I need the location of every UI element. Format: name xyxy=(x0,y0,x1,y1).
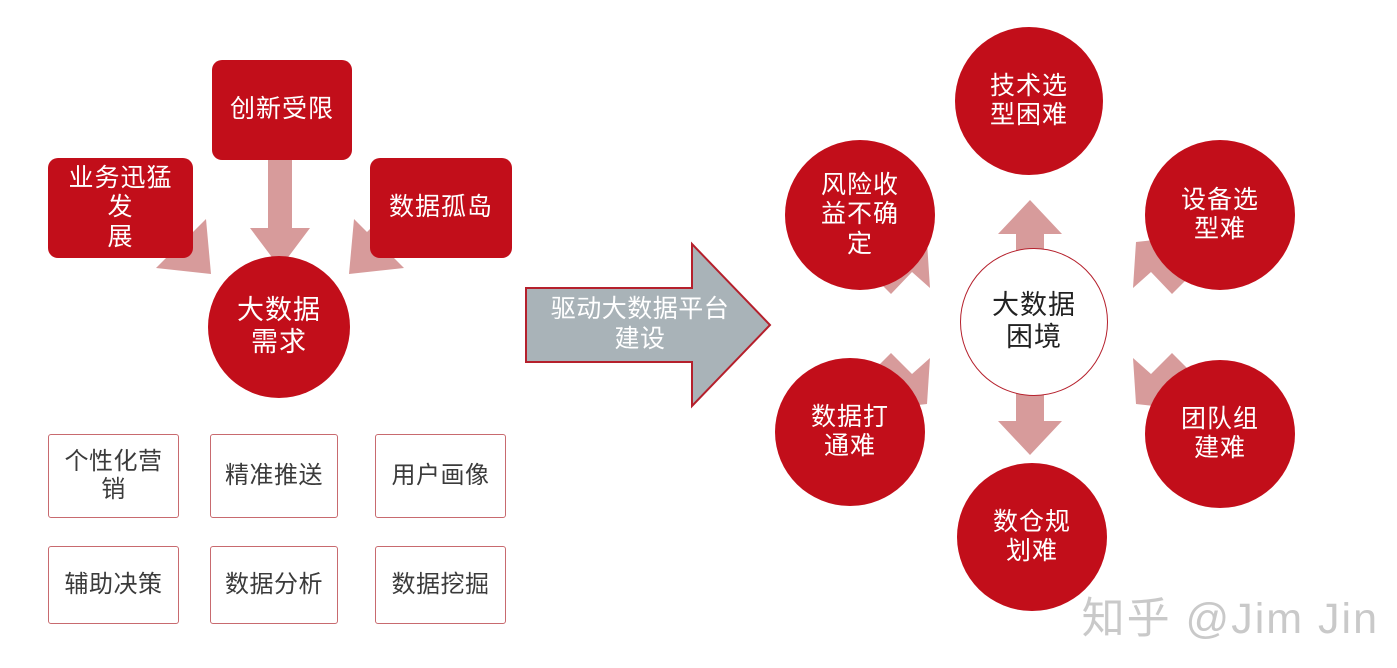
issue-circle-team-building-hard[interactable]: 团队组 建难 xyxy=(1145,360,1295,508)
issue-circle-tech-selection-hard[interactable]: 技术选 型困难 xyxy=(955,27,1103,175)
hub-circle-bigdata-demand[interactable]: 大数据 需求 xyxy=(208,256,350,398)
outcome-box-data-mining[interactable]: 数据挖掘 xyxy=(375,546,506,624)
outcome-box-user-profile[interactable]: 用户画像 xyxy=(375,434,506,518)
outcome-box-personalized-marketing[interactable]: 个性化营 销 xyxy=(48,434,179,518)
issue-circle-data-integration-hard[interactable]: 数据打 通难 xyxy=(775,358,925,506)
outcome-box-data-analysis[interactable]: 数据分析 xyxy=(210,546,338,624)
center-circle-bigdata-dilemma[interactable]: 大数据 困境 xyxy=(960,248,1108,396)
issue-circle-equipment-selection-hard[interactable]: 设备选 型难 xyxy=(1145,140,1295,290)
diagram-canvas: 业务迅猛发 展 创新受限 数据孤岛 大数据 需求 个性化营 销 精准推送 用户画… xyxy=(0,0,1397,668)
outcome-box-decision-support[interactable]: 辅助决策 xyxy=(48,546,179,624)
driver-box-innovation-limited[interactable]: 创新受限 xyxy=(212,60,352,160)
issue-circle-risk-return-uncertain[interactable]: 风险收 益不确 定 xyxy=(785,140,935,290)
watermark: 知乎 @Jim Jin xyxy=(1082,584,1379,646)
arrow-center-to-warehouse xyxy=(998,393,1062,455)
arrow-innovation-to-hub xyxy=(250,146,310,268)
outcome-box-precise-push[interactable]: 精准推送 xyxy=(210,434,338,518)
driver-box-business-growth[interactable]: 业务迅猛发 展 xyxy=(48,158,193,258)
transition-arrow-label: 驱动大数据平台 建设 xyxy=(542,294,738,354)
driver-box-data-island[interactable]: 数据孤岛 xyxy=(370,158,512,258)
